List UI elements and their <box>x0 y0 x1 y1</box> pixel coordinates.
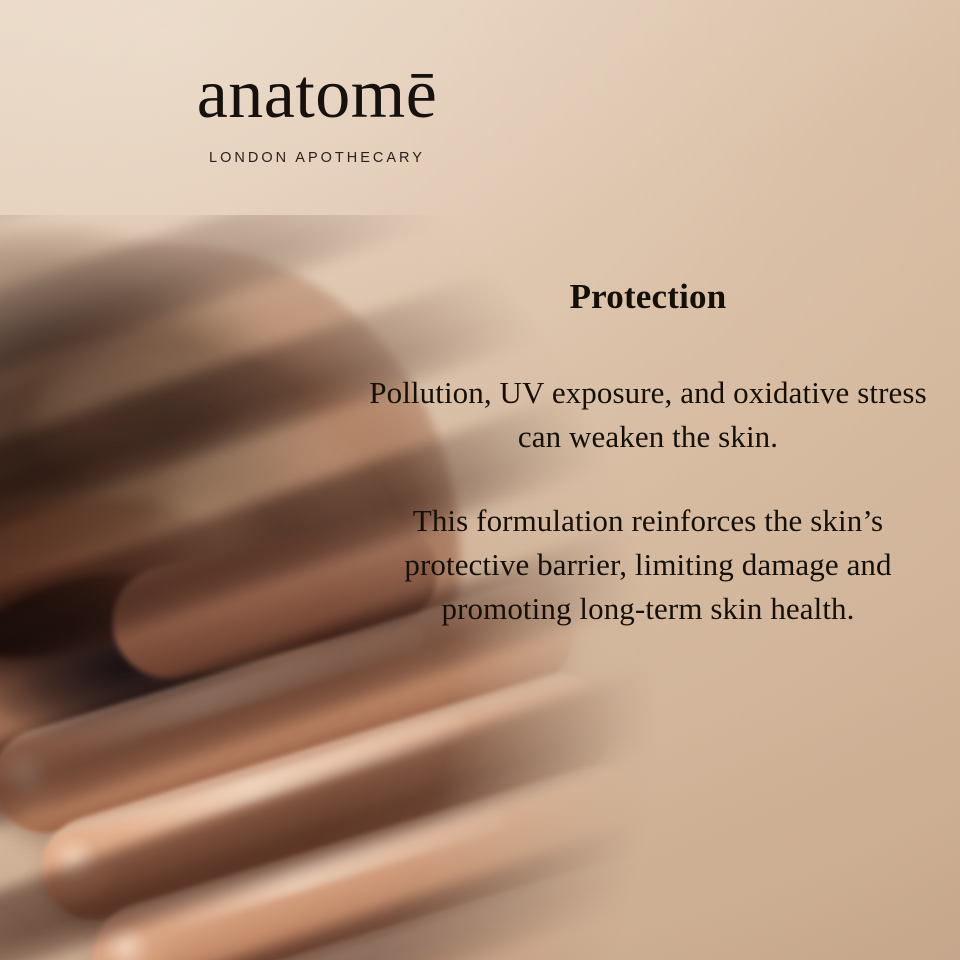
copy-block: Protection Pollution, UV exposure, and o… <box>358 278 938 631</box>
body-paragraph-1: Pollution, UV exposure, and oxidative st… <box>358 371 938 459</box>
brand-wordmark: anatomē <box>0 60 797 130</box>
promo-card: anatomē LONDON APOTHECARY Protection Pol… <box>0 0 960 960</box>
body-paragraph-2: This formulation reinforces the skin’s p… <box>358 499 938 631</box>
page-title: Protection <box>358 278 938 317</box>
brand-tagline: LONDON APOTHECARY <box>0 150 797 166</box>
brand-logo: anatomē LONDON APOTHECARY <box>0 60 960 166</box>
